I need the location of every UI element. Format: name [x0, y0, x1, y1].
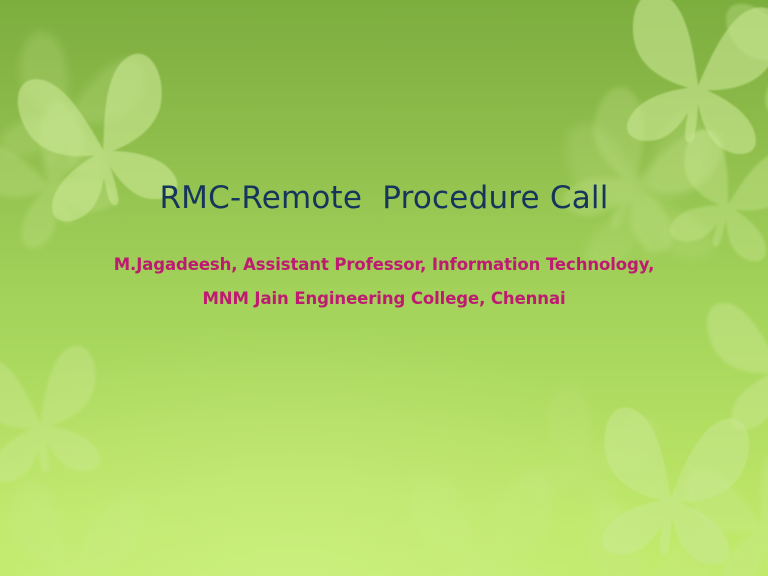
presentation-slide: RMC-Remote Procedure Call M.Jagadeesh, A… [0, 0, 768, 576]
slide-subtitle-author: M.Jagadeesh, Assistant Professor, Inform… [0, 255, 768, 274]
slide-title: RMC-Remote Procedure Call [0, 180, 768, 216]
slide-content: RMC-Remote Procedure Call M.Jagadeesh, A… [0, 0, 768, 576]
slide-subtitle-institution: MNM Jain Engineering College, Chennai [0, 289, 768, 308]
